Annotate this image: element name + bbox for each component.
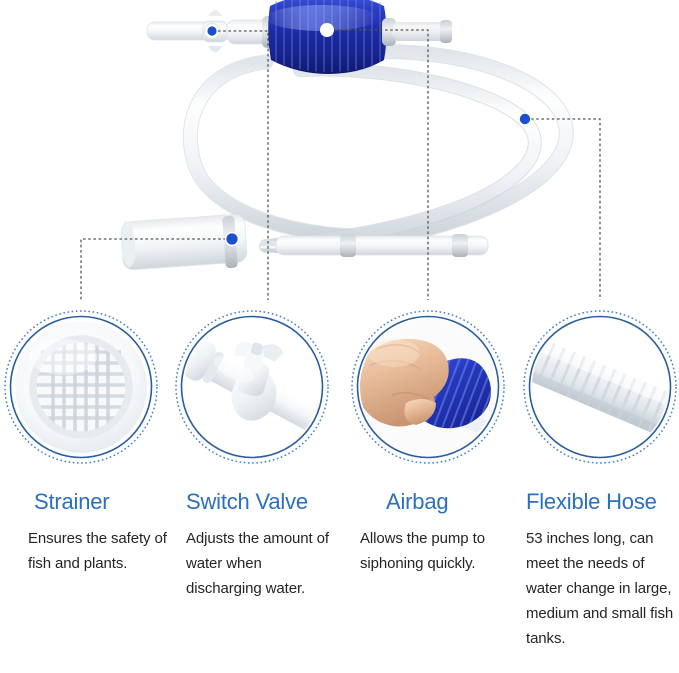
switch-valve-marker	[207, 26, 216, 35]
feature-title-switch-valve: Switch Valve	[186, 488, 338, 515]
feature-description-flexible-hose: 53 inches long, can meet the needs of wa…	[526, 526, 678, 651]
pump-assembly-graphic	[147, 0, 452, 76]
callout-airbag-svg	[350, 309, 506, 465]
discharge-tube-graphic	[276, 234, 488, 257]
callout-flexible-hose-svg	[522, 309, 678, 465]
callout-switch-valve-svg	[174, 309, 330, 465]
feature-airbag: Airbag Allows the pump to siphoning quic…	[360, 488, 515, 576]
feature-flexible-hose: Flexible Hose 53 inches long, can meet t…	[526, 488, 678, 651]
feature-description-strainer: Ensures the safety of fish and plants.	[28, 526, 176, 576]
airbag-photo	[350, 309, 506, 465]
feature-strainer: Strainer Ensures the safety of fish and …	[28, 488, 176, 576]
strainer-photo	[3, 309, 159, 465]
flexible-hose-photo	[522, 309, 678, 465]
callout-airbag	[350, 309, 506, 465]
switch-valve-photo	[174, 309, 330, 465]
hose-marker	[519, 113, 531, 125]
flexible-hose-graphic	[190, 52, 566, 250]
strainer-marker	[226, 233, 239, 246]
infographic-page: Strainer Ensures the safety of fish and …	[0, 0, 679, 673]
product-photo-svg	[0, 0, 679, 300]
feature-description-switch-valve: Adjusts the amount of water when dischar…	[186, 526, 338, 601]
feature-title-airbag: Airbag	[386, 488, 515, 515]
feature-title-strainer: Strainer	[34, 488, 176, 515]
callout-strainer	[3, 309, 159, 465]
callout-flexible-hose	[522, 309, 678, 465]
feature-title-flexible-hose: Flexible Hose	[526, 488, 678, 515]
callout-strainer-svg	[3, 309, 159, 465]
feature-switch-valve: Switch Valve Adjusts the amount of water…	[186, 488, 338, 601]
feature-description-airbag: Allows the pump to siphoning quickly.	[360, 526, 515, 576]
airbag-graphic	[266, 0, 387, 76]
airbag-marker	[320, 23, 334, 37]
product-photo	[0, 0, 679, 300]
callout-switch-valve	[174, 309, 330, 465]
